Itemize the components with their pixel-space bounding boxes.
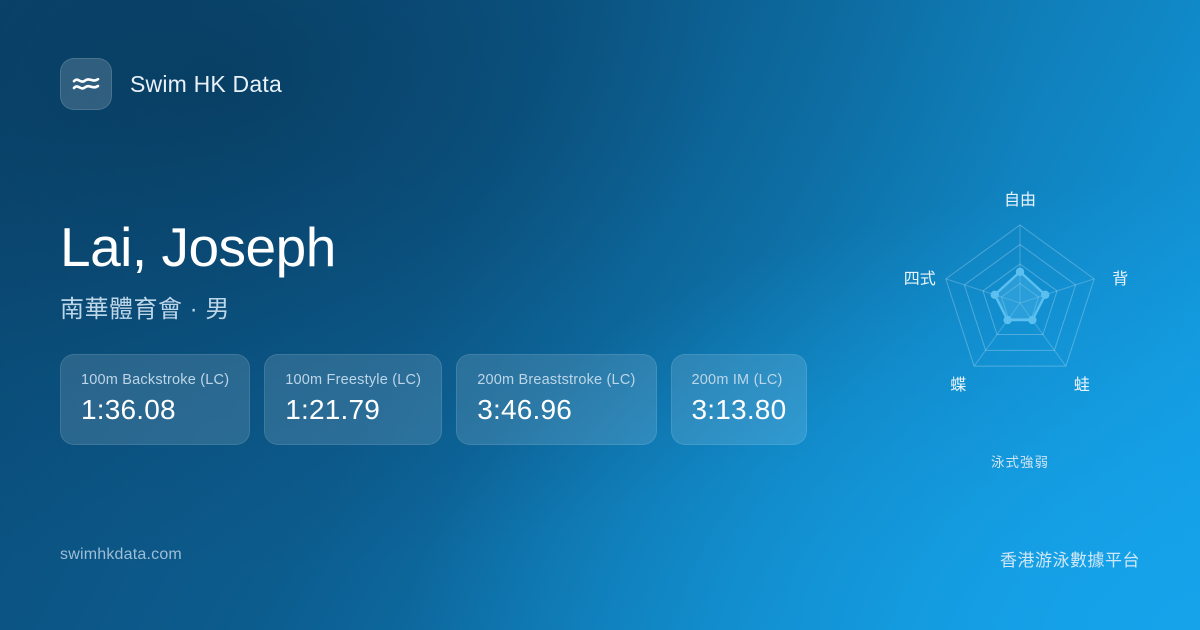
radar-data-area <box>995 272 1045 320</box>
waves-icon <box>60 58 112 110</box>
stat-card[interactable]: 200m Breaststroke (LC) 3:46.96 <box>456 354 656 445</box>
stat-card-list: 100m Backstroke (LC) 1:36.08 100m Freest… <box>60 354 807 445</box>
radar-data-point <box>1041 291 1049 299</box>
footer-tagline: 香港游泳數據平台 <box>1000 546 1140 571</box>
radar-data-point <box>1028 316 1036 324</box>
radar-axis-label: 蛙 <box>1074 376 1090 394</box>
athlete-meta: 南華體育會 · 男 <box>60 289 336 324</box>
stat-card[interactable]: 100m Freestyle (LC) 1:21.79 <box>264 354 442 445</box>
athlete-identity: Lai, Joseph 南華體育會 · 男 <box>60 218 336 324</box>
radar-data-point <box>991 291 999 299</box>
radar-axis-label: 蝶 <box>950 376 966 394</box>
radar-axis-label: 背 <box>1112 270 1128 288</box>
stat-card-label: 200m IM (LC) <box>692 372 787 388</box>
share-card: Swim HK Data Lai, Joseph 南華體育會 · 男 100m … <box>0 0 1200 630</box>
brand-header[interactable]: Swim HK Data <box>60 58 282 110</box>
stat-card-value: 1:21.79 <box>285 394 421 426</box>
stat-card-label: 200m Breaststroke (LC) <box>477 372 635 388</box>
stat-card[interactable]: 100m Backstroke (LC) 1:36.08 <box>60 354 250 445</box>
stat-card[interactable]: 200m IM (LC) 3:13.80 <box>671 354 808 445</box>
footer-site-url[interactable]: swimhkdata.com <box>60 546 182 564</box>
stat-card-value: 1:36.08 <box>81 394 229 426</box>
stat-card-label: 100m Freestyle (LC) <box>285 372 421 388</box>
stat-card-value: 3:13.80 <box>692 394 787 426</box>
stat-card-label: 100m Backstroke (LC) <box>81 372 229 388</box>
radar-axis-label: 四式 <box>904 270 936 288</box>
radar-data-point <box>1003 316 1011 324</box>
page-title: Lai, Joseph <box>60 218 336 277</box>
radar-axis-label: 自由 <box>1004 191 1036 209</box>
brand-name: Swim HK Data <box>130 71 282 98</box>
radar-data-point <box>1016 268 1024 276</box>
radar-caption: 泳式強弱 <box>860 451 1180 471</box>
stroke-strength-radar-chart: 自由背蛙蝶四式 泳式強弱 <box>860 160 1180 470</box>
stat-card-value: 3:46.96 <box>477 394 635 426</box>
